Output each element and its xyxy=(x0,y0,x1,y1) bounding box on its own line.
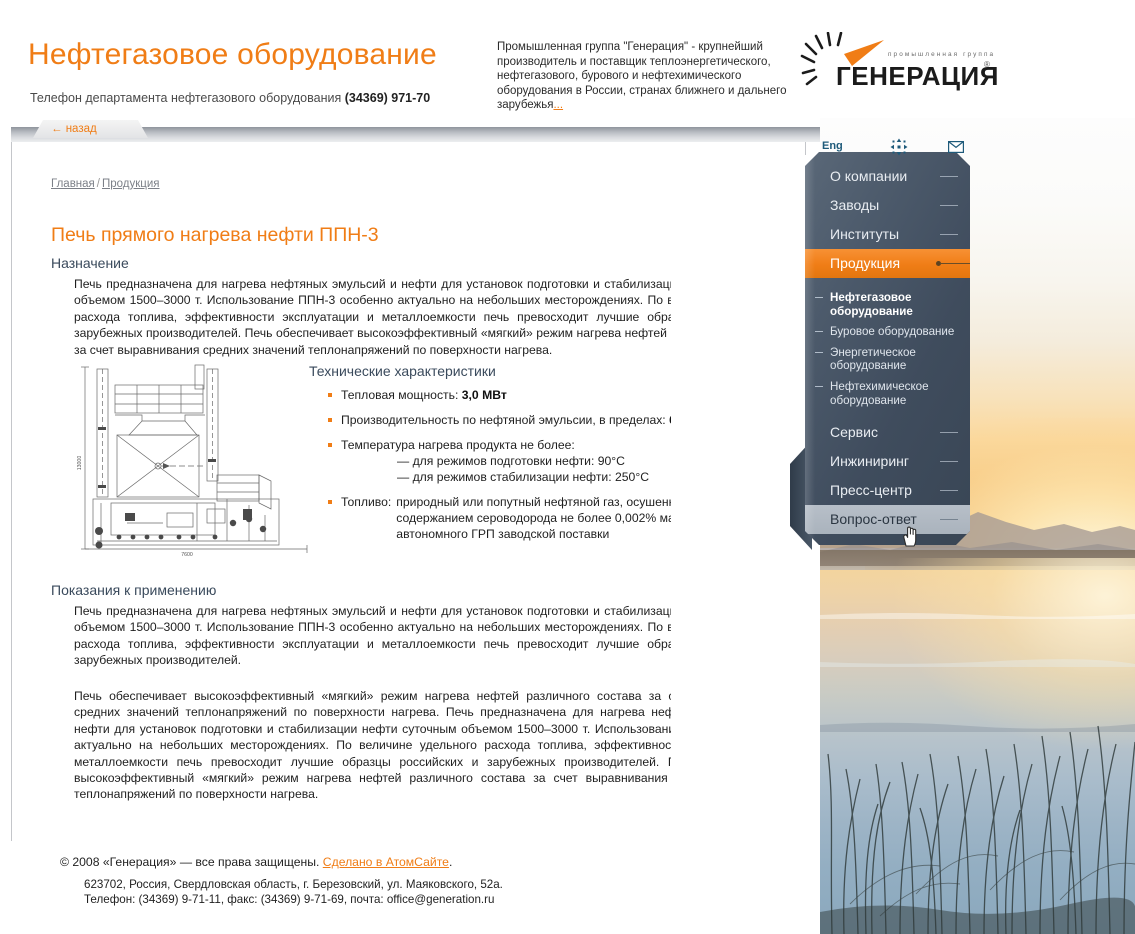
spec-temperature-sub-preparation: — для режимов подготовки нефти: 90°C xyxy=(341,453,787,469)
back-button-label: ← назад xyxy=(51,123,97,135)
mouse-cursor-pointer-hand xyxy=(900,524,920,548)
site-title: Нефтегазовое оборудование xyxy=(28,38,437,72)
spec-temperature-label: Температура нагрева продукта не более: xyxy=(341,438,575,452)
drawing-dimension-label: 7600 xyxy=(181,552,193,558)
final-paragraph: Печь обеспечивает высокоэффективный «мяг… xyxy=(74,688,782,803)
nav-item-engineering[interactable]: Инжиниринг xyxy=(805,447,970,476)
nav-active-marker xyxy=(936,261,970,265)
photo-reed-silhouettes xyxy=(820,604,1135,934)
company-description: Промышленная группа "Генерация" - крупне… xyxy=(497,40,797,113)
nav-subitem-dash xyxy=(815,386,823,387)
purpose-heading: Назначение xyxy=(51,255,129,271)
nav-item-dash xyxy=(940,519,958,520)
nav-subitem-dash xyxy=(815,352,823,353)
nav-subitem-oil-gas-equipment[interactable]: Нефтегазовое оборудование xyxy=(805,291,970,318)
nav-item-label: Сервис xyxy=(830,424,878,440)
spec-item-power: Тепловая мощность: 3,0 МВт xyxy=(327,387,787,403)
nav-item-label: Продукция xyxy=(830,255,900,271)
nav-subitem-label: Нефтехимическое оборудование xyxy=(830,380,929,407)
nav-item-about[interactable]: О компании xyxy=(805,162,970,191)
footer-copyright: © 2008 «Генерация» — все права защищены.… xyxy=(60,855,680,869)
nav-item-label: Пресс-центр xyxy=(830,482,912,498)
department-phone: Телефон департамента нефтегазового обору… xyxy=(30,91,430,105)
spec-temperature-sub-stabilization: — для режимов стабилизации нефти: 250°C xyxy=(341,469,787,485)
department-phone-label: Телефон департамента нефтегазового обору… xyxy=(30,91,345,105)
nav-item-press-center[interactable]: Пресс-центр xyxy=(805,476,970,505)
furnace-technical-drawing: 7600 13000 xyxy=(67,363,319,558)
nav-item-plants[interactable]: Заводы xyxy=(805,191,970,220)
spec-fuel-value: природный или попутный нефтяной газ, осу… xyxy=(391,494,786,542)
spec-fuel-label: Топливо: xyxy=(341,495,391,509)
purpose-paragraph: Печь предназначена для нагрева нефтяных … xyxy=(74,276,782,358)
footer-contacts: Телефон: (34369) 9-71-11, факс: (34369) … xyxy=(84,893,680,908)
indications-heading: Показания к применению xyxy=(51,582,216,598)
nav-item-label: О компании xyxy=(830,168,907,184)
breadcrumb-separator: / xyxy=(95,178,102,190)
back-button[interactable]: ← назад xyxy=(33,120,148,138)
main-navigation-panel: О компании Заводы Институты Продукция Не… xyxy=(805,152,970,545)
nav-subitem-label: Энергетическое оборудование xyxy=(830,346,916,373)
generation-logo[interactable]: ГЕНЕРАЦИЯ промышленная группа ® xyxy=(792,32,1002,94)
sitemap-arrows-icon[interactable] xyxy=(890,138,908,156)
indications-paragraph: Печь предназначена для нагрева нефтяных … xyxy=(74,603,782,669)
drawing-dimension-label-vertical: 13000 xyxy=(77,456,83,471)
footer-made-by-link[interactable]: Сделано в АтомСайте xyxy=(323,855,449,869)
footer-copyright-text: © 2008 «Генерация» — все права защищены. xyxy=(60,855,323,869)
nav-submenu-products: Нефтегазовое оборудование Буровое оборуд… xyxy=(805,278,970,418)
page-header: Нефтегазовое оборудование Телефон департ… xyxy=(0,0,1135,118)
tech-specs-list: Тепловая мощность: 3,0 МВт Производитель… xyxy=(327,387,787,551)
nav-subitem-label: Буровое оборудование xyxy=(830,325,954,338)
spec-capacity-value: 62,5–125 т/ч xyxy=(669,413,740,427)
utility-toolbar: Eng xyxy=(812,138,977,158)
nav-item-label: Институты xyxy=(830,226,899,242)
page-title: Печь прямого нагрева нефти ППН-3 xyxy=(51,224,379,247)
breadcrumb: Главная/Продукция xyxy=(51,178,160,190)
spec-item-capacity: Производительность по нефтяной эмульсии,… xyxy=(327,412,787,428)
spec-capacity-label: Производительность по нефтяной эмульсии,… xyxy=(341,413,669,427)
spec-item-temperature: Температура нагрева продукта не более: —… xyxy=(327,437,787,485)
nav-item-institutes[interactable]: Институты xyxy=(805,220,970,249)
nav-item-products[interactable]: Продукция xyxy=(805,249,970,278)
nav-subitem-petrochemical-equipment[interactable]: Нефтехимическое оборудование xyxy=(805,380,970,407)
nav-item-dash xyxy=(940,234,958,235)
spec-power-value: 3,0 МВт xyxy=(462,388,507,402)
logo-subtitle: промышленная группа xyxy=(888,51,995,58)
nav-item-service[interactable]: Сервис xyxy=(805,418,970,447)
breadcrumb-home-link[interactable]: Главная xyxy=(51,178,95,190)
nav-item-dash xyxy=(940,176,958,177)
page-footer: © 2008 «Генерация» — все права защищены.… xyxy=(60,855,680,907)
footer-address: 623702, Россия, Свердловская область, г.… xyxy=(84,878,680,893)
nav-subitem-power-equipment[interactable]: Энергетическое оборудование xyxy=(805,346,970,373)
spec-item-fuel: Топливо:природный или попутный нефтяной … xyxy=(327,494,787,542)
spec-power-label: Тепловая мощность: xyxy=(341,388,462,402)
nav-item-faq[interactable]: Вопрос-ответ xyxy=(805,505,970,534)
logo-registered-mark: ® xyxy=(984,60,990,69)
company-description-text: Промышленная группа "Генерация" - крупне… xyxy=(497,41,786,111)
department-phone-number: (34369) 971-70 xyxy=(345,91,430,105)
footer-address-block: 623702, Россия, Свердловская область, г.… xyxy=(84,878,680,907)
language-switch-link[interactable]: Eng xyxy=(822,140,843,152)
nav-subitem-dash xyxy=(815,331,823,332)
tech-specs-heading: Технические характеристики xyxy=(309,363,496,379)
nav-item-label: Заводы xyxy=(830,197,879,213)
nav-item-dash xyxy=(940,461,958,462)
nav-subitem-drilling-equipment[interactable]: Буровое оборудование xyxy=(805,325,970,339)
breadcrumb-section-link[interactable]: Продукция xyxy=(102,178,160,190)
nav-item-dash xyxy=(940,205,958,206)
main-content-card: Главная/Продукция Печь прямого нагрева н… xyxy=(11,141,806,843)
nav-item-dash xyxy=(940,432,958,433)
company-description-more-link[interactable]: ... xyxy=(553,99,563,111)
footer-copyright-end: . xyxy=(449,855,452,869)
nav-subitem-dash xyxy=(815,297,823,298)
logo-wordmark: ГЕНЕРАЦИЯ xyxy=(836,61,999,92)
nav-item-label: Инжиниринг xyxy=(830,453,909,469)
nav-subitem-label: Нефтегазовое оборудование xyxy=(830,291,913,318)
envelope-icon[interactable] xyxy=(948,141,964,153)
nav-item-dash xyxy=(940,490,958,491)
